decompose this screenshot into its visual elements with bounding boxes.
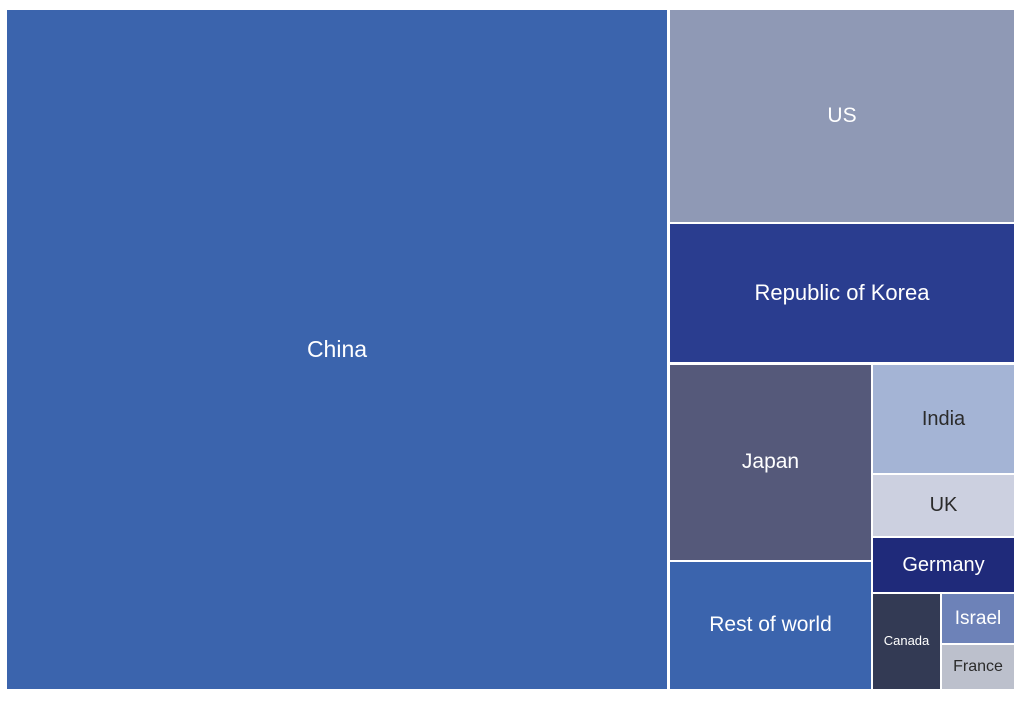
treemap-tile-label: Israel bbox=[955, 608, 1001, 630]
treemap-tile[interactable]: Israel bbox=[942, 594, 1014, 643]
treemap-tile[interactable]: Germany bbox=[873, 538, 1014, 592]
treemap-tile-label: India bbox=[922, 408, 965, 431]
treemap-tile-label: Rest of world bbox=[709, 613, 832, 637]
treemap-tile[interactable]: China bbox=[7, 10, 667, 689]
treemap-chart: ChinaUSRepublic of KoreaJapanRest of wor… bbox=[0, 0, 1024, 704]
treemap-tile[interactable]: UK bbox=[873, 475, 1014, 536]
treemap-tile[interactable]: US bbox=[670, 10, 1014, 222]
treemap-tile[interactable]: France bbox=[942, 645, 1014, 689]
treemap-tile-label: China bbox=[307, 336, 367, 362]
treemap-tile[interactable]: Rest of world bbox=[670, 562, 871, 689]
treemap-tile[interactable]: India bbox=[873, 365, 1014, 473]
treemap-tile-label: Republic of Korea bbox=[755, 280, 930, 305]
treemap-tile[interactable]: Republic of Korea bbox=[670, 224, 1014, 362]
treemap-tile-label: UK bbox=[930, 494, 958, 517]
treemap-tile-label: Canada bbox=[884, 634, 930, 649]
treemap-tile-label: Japan bbox=[742, 450, 799, 474]
treemap-tile[interactable]: Canada bbox=[873, 594, 940, 689]
treemap-tile-label: Germany bbox=[902, 554, 984, 577]
treemap-tile-label: US bbox=[827, 104, 856, 128]
treemap-tile-label: France bbox=[953, 658, 1003, 676]
treemap-tile[interactable]: Japan bbox=[670, 365, 871, 560]
